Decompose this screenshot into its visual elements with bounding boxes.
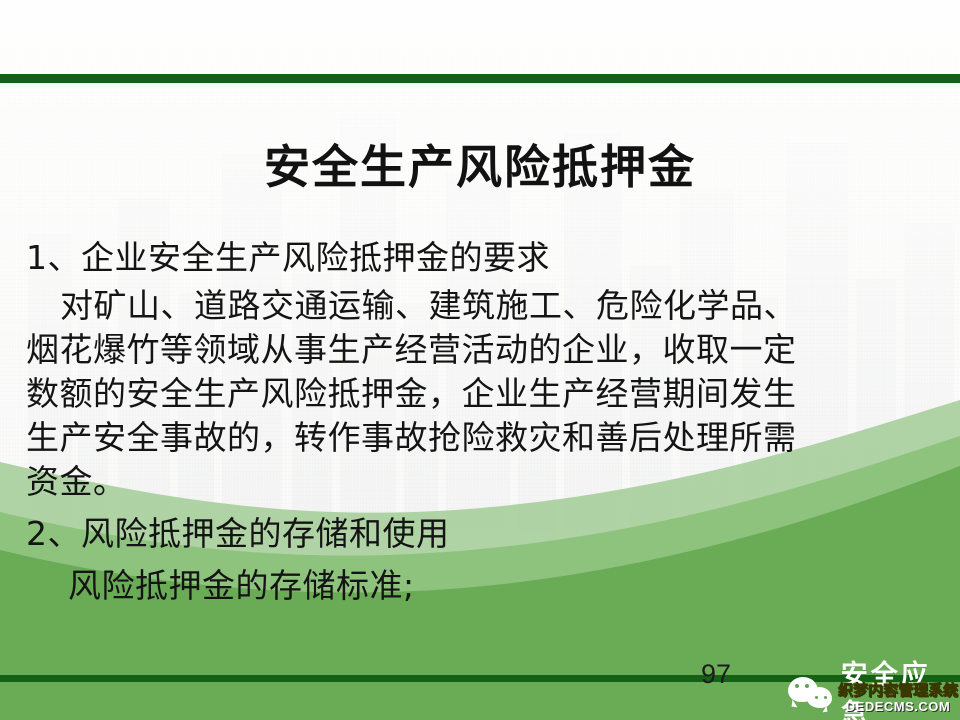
watermark-line-1: 织梦内容管理系统 bbox=[838, 683, 958, 698]
slide-body: 1、企业安全生产风险抵押金的要求 对矿山、道路交通运输、建筑施工、危险化学品、 … bbox=[26, 236, 942, 608]
slide-canvas: 安全生产风险抵押金 1、企业安全生产风险抵押金的要求 对矿山、道路交通运输、建筑… bbox=[0, 0, 960, 720]
top-accent-rule bbox=[0, 74, 960, 83]
page-title: 安全生产风险抵押金 bbox=[0, 139, 960, 195]
body-spacer bbox=[26, 504, 942, 512]
body-spacer-2 bbox=[26, 556, 942, 564]
section-2-heading: 2、风险抵押金的存储和使用 bbox=[26, 512, 942, 556]
paragraph-line-5: 资金。 bbox=[26, 460, 942, 504]
watermark-line-2: DEDECMS.COM bbox=[838, 700, 958, 713]
dedecms-watermark: 织梦内容管理系统 DEDECMS.COM bbox=[838, 683, 958, 714]
wechat-icon bbox=[788, 677, 832, 708]
page-number: 97 bbox=[686, 659, 746, 690]
paragraph-line-4: 生产安全事故的，转作事故抢险救灾和善后处理所需 bbox=[26, 416, 942, 460]
section-1-heading: 1、企业安全生产风险抵押金的要求 bbox=[26, 236, 942, 280]
paragraph-line-3: 数额的安全生产风险抵押金，企业生产经营期间发生 bbox=[26, 372, 942, 416]
paragraph-line-2: 烟花爆竹等领域从事生产经营活动的企业，收取一定 bbox=[26, 328, 942, 372]
section-2-item: 风险抵押金的存储标准; bbox=[26, 564, 942, 608]
top-accent-glow bbox=[0, 83, 960, 88]
paragraph-line-1: 对矿山、道路交通运输、建筑施工、危险化学品、 bbox=[26, 284, 942, 328]
